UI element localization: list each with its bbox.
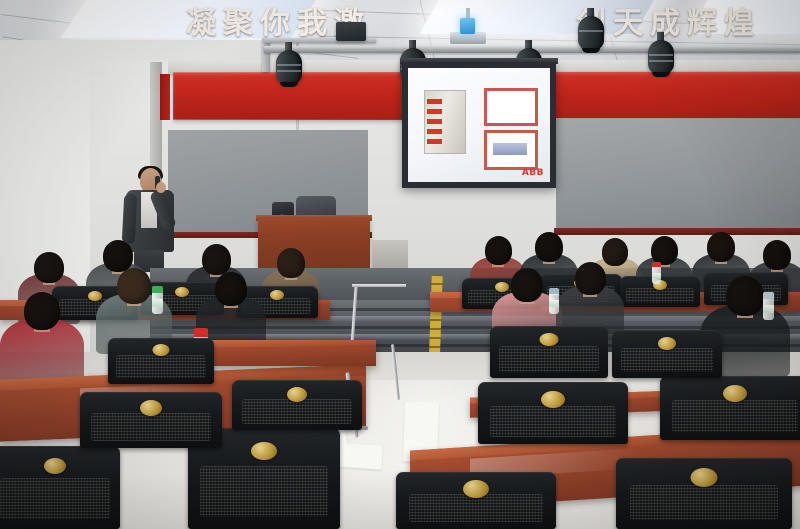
chair-foreground[interactable]	[0, 446, 120, 529]
spotlight	[274, 42, 304, 88]
presenter-left-arm	[122, 194, 138, 245]
spotlight-body	[276, 50, 302, 84]
spotlight-body	[648, 40, 674, 74]
audience-head	[485, 236, 512, 265]
audience-head	[575, 262, 606, 295]
audience-head	[726, 276, 764, 316]
chair-foreground[interactable]	[616, 458, 792, 529]
audience-head	[215, 272, 247, 306]
projector-lens-icon	[460, 18, 475, 34]
spotlight-body	[578, 16, 604, 50]
chair-midground[interactable]	[612, 330, 722, 378]
audience-head	[24, 292, 60, 330]
audience-head	[34, 252, 64, 283]
spotlight-lens	[652, 72, 670, 77]
spotlight-ring	[649, 60, 673, 62]
presenter-hand	[156, 182, 166, 193]
conference-room-photo: 凝聚你我激 创天成辉煌	[0, 0, 800, 529]
slide-cabinet-image	[424, 90, 466, 154]
slide-box-lower	[484, 130, 538, 170]
banner-fold	[160, 74, 170, 120]
projection-screen: ABB	[402, 62, 556, 188]
spotlight-lens	[582, 48, 600, 53]
chair-midground[interactable]	[108, 338, 214, 384]
spotlight-ring	[649, 54, 673, 56]
chair-midground[interactable]	[80, 392, 222, 448]
water-bottle	[652, 262, 661, 284]
spotlight-ring	[277, 64, 301, 66]
light-rail-vertical	[262, 38, 270, 72]
water-bottle	[152, 286, 163, 314]
slide-box-lower-fill	[493, 143, 527, 155]
spotlight-lens	[280, 82, 298, 87]
audience-head	[277, 248, 305, 278]
desk-midground-left	[196, 340, 376, 366]
blackboard-right	[556, 118, 800, 231]
spotlight	[646, 32, 676, 78]
spotlight	[576, 8, 606, 54]
side-cabinet	[372, 240, 408, 270]
spotlight-ring	[277, 70, 301, 72]
ceiling-speaker	[336, 22, 366, 41]
audience-head	[651, 236, 678, 265]
chair-midground[interactable]	[478, 382, 628, 444]
water-bottle	[763, 292, 774, 320]
slide-canvas: ABB	[408, 68, 550, 182]
chair-midground[interactable]	[232, 380, 362, 430]
water-bottle	[549, 288, 559, 314]
stage-handrail-top	[352, 284, 406, 287]
audience-head	[511, 268, 543, 302]
audience-head	[202, 244, 231, 275]
spotlight-ring	[579, 30, 603, 32]
abb-logo: ABB	[522, 168, 544, 178]
chair-foreground[interactable]	[396, 472, 556, 529]
audience-head	[535, 232, 563, 262]
slide-box-upper	[484, 88, 538, 126]
chair-midground[interactable]	[490, 326, 608, 378]
blackboard-right-rail	[554, 228, 800, 235]
ceiling-projector	[450, 18, 486, 48]
chair-midground[interactable]	[660, 376, 800, 440]
audience-head	[763, 240, 791, 270]
audience-head	[117, 268, 151, 304]
audience-head	[707, 232, 735, 262]
